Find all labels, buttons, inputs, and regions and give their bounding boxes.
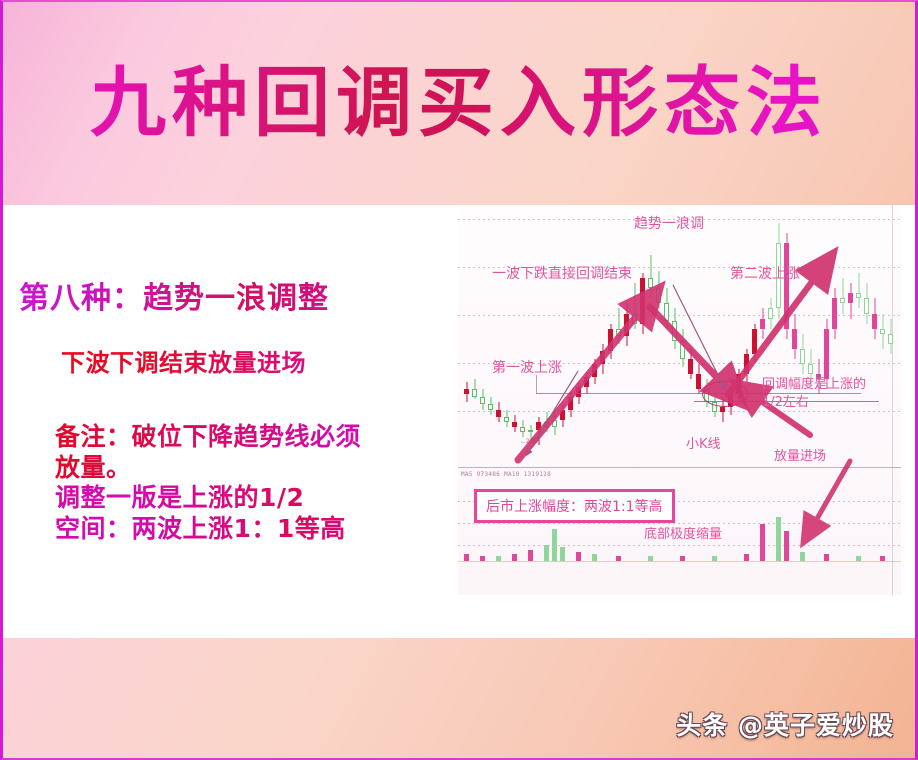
note-line: 放量。 <box>55 453 453 484</box>
page-title: 九种回调买入形态法 <box>80 63 838 143</box>
section-heading: 第八种：趋势一浪调整 <box>19 273 453 317</box>
ma-indicator-text: MA5 973486 MA10 1319128 <box>461 471 551 478</box>
chart-label-small-k: 小K线 <box>686 433 721 452</box>
chart-label-trend-wave: 趋势一浪调 <box>634 213 704 233</box>
chart-label-wave1-up: 第一波上涨 <box>492 357 562 377</box>
slide-root: 九种回调买入形态法 第八种：趋势一浪调整 下波下调结束放量进场 备注：破位下降趋… <box>0 0 918 760</box>
note-line: 空间：两波上涨1：1等高 <box>55 514 453 545</box>
chart-label-volume-entry: 放量进场 <box>774 445 826 464</box>
notes-block: 备注：破位下降趋势线必须 放量。 调整一版是上涨的1/2 空间：两波上涨1：1等… <box>55 422 453 544</box>
content-panel: 第八种：趋势一浪调整 下波下调结束放量进场 备注：破位下降趋势线必须 放量。 调… <box>3 205 915 638</box>
arrow-bottom-volume <box>810 461 850 531</box>
chart-label-pullback-end: 一波下跌直接回调结束 <box>492 263 632 283</box>
text-column: 第八种：趋势一浪调整 下波下调结束放量进场 备注：破位下降趋势线必须 放量。 调… <box>13 273 453 544</box>
chart-label-bottom-shrink: 底部极度缩量 <box>644 523 722 542</box>
watermark: 头条 @英子爱炒股 <box>676 706 894 742</box>
low-price-tag: ←2.85 <box>520 439 538 445</box>
note-line: 调整一版是上涨的1/2 <box>55 483 453 514</box>
chart-label-retrace-2: 1/2左右 <box>762 391 809 410</box>
title-band: 九种回调买入形态法 <box>3 0 915 205</box>
chart-canvas: 趋势一浪调 一波下跌直接回调结束 第二波上涨 第一波上涨 回调幅度是上涨的 1/… <box>458 205 901 595</box>
section-subtitle: 下波下调结束放量进场 <box>61 343 453 378</box>
chart-label-retrace-1: 回调幅度是上涨的 <box>762 373 866 392</box>
candlestick-chart-image: 趋势一浪调 一波下跌直接回调结束 第二波上涨 第一波上涨 回调幅度是上涨的 1/… <box>458 205 901 595</box>
chart-label-wave2-up: 第二波上涨 <box>730 263 800 283</box>
target-projection-box: 后市上涨幅度：两波1:1等高 <box>474 489 675 523</box>
note-line: 备注：破位下降趋势线必须 <box>55 422 453 453</box>
